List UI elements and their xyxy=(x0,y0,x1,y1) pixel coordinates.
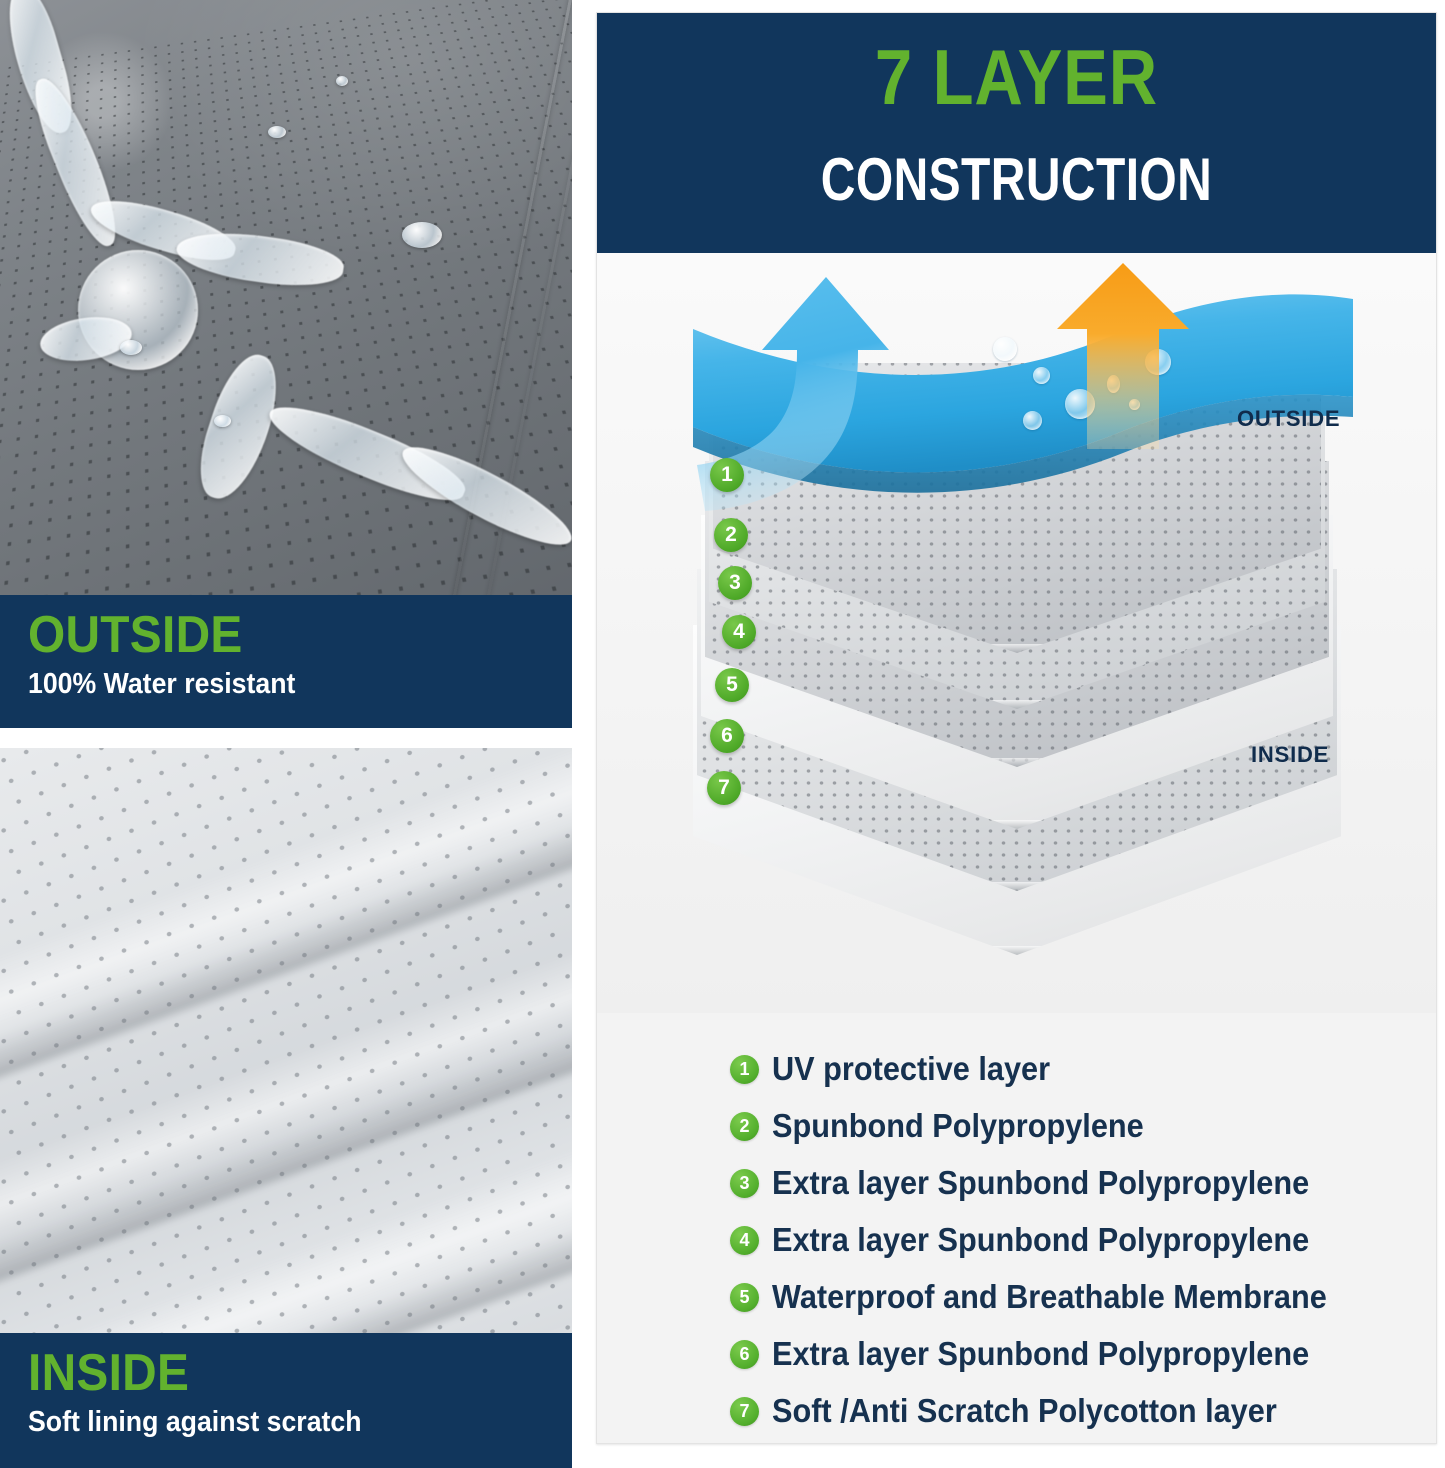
stack-badge-6: 6 xyxy=(710,719,744,753)
outside-caption-bar: OUTSIDE 100% Water resistant xyxy=(0,595,572,728)
legend-badge-1: 1 xyxy=(730,1055,759,1084)
legend-label-6: Extra layer Spunbond Polypropylene xyxy=(772,1336,1309,1372)
legend-item-2: 2 Spunbond Polypropylene xyxy=(730,1106,1172,1146)
legend-item-1: 1 UV protective layer xyxy=(730,1049,1071,1089)
inside-caption-subtitle: Soft lining against scratch xyxy=(28,1407,362,1437)
legend-badge-6: 6 xyxy=(730,1340,759,1369)
legend-item-6: 6 Extra layer Spunbond Polypropylene xyxy=(730,1334,1350,1374)
legend-label-4: Extra layer Spunbond Polypropylene xyxy=(772,1222,1309,1258)
layer-legend-list: 1 UV protective layer 2 Spunbond Polypro… xyxy=(597,1013,1437,1444)
outside-caption-subtitle: 100% Water resistant xyxy=(28,669,295,699)
legend-item-4: 4 Extra layer Spunbond Polypropylene xyxy=(730,1220,1350,1260)
inside-caption-bar: INSIDE Soft lining against scratch xyxy=(0,1333,572,1468)
panel-title-sub: CONSTRUCTION xyxy=(681,149,1352,211)
legend-label-7: Soft /Anti Scratch Polycotton layer xyxy=(772,1393,1277,1429)
panel-header: 7 LAYER CONSTRUCTION xyxy=(597,13,1436,253)
water-droplet xyxy=(214,415,231,427)
panel-title-main: 7 LAYER xyxy=(656,37,1378,117)
legend-label-3: Extra layer Spunbond Polypropylene xyxy=(772,1165,1309,1201)
legend-badge-2: 2 xyxy=(730,1112,759,1141)
stack-badge-4: 4 xyxy=(722,615,756,649)
stack-badge-2: 2 xyxy=(714,518,748,552)
outside-caption-title: OUTSIDE xyxy=(28,609,243,661)
legend-badge-5: 5 xyxy=(730,1283,759,1312)
layer-diagram: 1 2 3 4 5 6 7 OUTSIDE INSIDE xyxy=(597,253,1437,1013)
breathability-arrow xyxy=(1057,263,1189,449)
left-photo-column: OUTSIDE 100% Water resistant INSIDE Soft… xyxy=(0,0,572,1468)
water-droplet xyxy=(402,222,442,248)
stack-badge-3: 3 xyxy=(718,566,752,600)
construction-panel: 7 LAYER CONSTRUCTION xyxy=(596,12,1437,1444)
legend-label-5: Waterproof and Breathable Membrane xyxy=(772,1279,1327,1315)
legend-label-1: UV protective layer xyxy=(772,1051,1050,1087)
stack-badge-5: 5 xyxy=(715,668,749,702)
legend-badge-3: 3 xyxy=(730,1169,759,1198)
water-droplet xyxy=(268,126,286,138)
water-droplet xyxy=(336,76,348,86)
inside-caption-title: INSIDE xyxy=(28,1347,189,1399)
outside-side-label: OUTSIDE xyxy=(1237,406,1340,432)
stack-badge-1: 1 xyxy=(710,458,744,492)
legend-badge-4: 4 xyxy=(730,1226,759,1255)
legend-item-5: 5 Waterproof and Breathable Membrane xyxy=(730,1277,1369,1317)
legend-badge-7: 7 xyxy=(730,1397,759,1426)
legend-label-2: Spunbond Polypropylene xyxy=(772,1108,1144,1144)
legend-item-7: 7 Soft /Anti Scratch Polycotton layer xyxy=(730,1391,1315,1431)
stack-badge-7: 7 xyxy=(707,771,741,805)
inside-side-label: INSIDE xyxy=(1251,742,1329,768)
legend-item-3: 3 Extra layer Spunbond Polypropylene xyxy=(730,1163,1350,1203)
water-droplet xyxy=(120,340,142,355)
infographic-page: OUTSIDE 100% Water resistant INSIDE Soft… xyxy=(0,0,1445,1468)
